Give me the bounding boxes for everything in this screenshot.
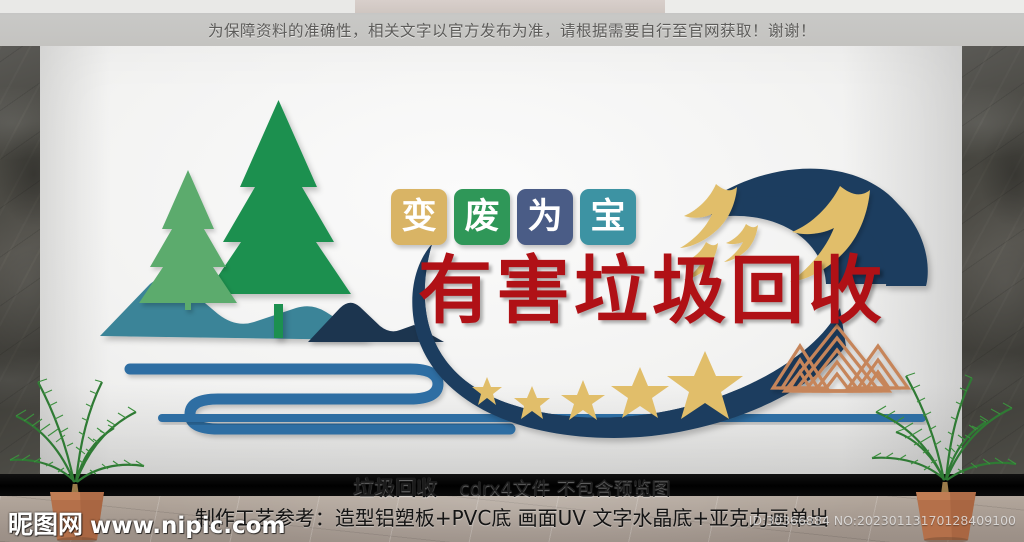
tagline-tiles: 变 废 为 宝 <box>391 189 636 245</box>
tagline-tile-0: 变 <box>391 189 447 245</box>
asset-id-watermark: ID:30366884 NO:20230113170128409100 <box>749 513 1016 528</box>
tagline-tile-1: 废 <box>454 189 510 245</box>
room-photo: 变 废 为 宝 有害垃圾回收 <box>0 46 1024 542</box>
potted-palm-right <box>860 322 1020 542</box>
bird-medium <box>680 184 737 248</box>
tagline-tile-3: 宝 <box>580 189 636 245</box>
tagline-tile-2: 为 <box>517 189 573 245</box>
tagline-tile-2-char: 为 <box>527 200 562 235</box>
screenshot-root: 为保障资料的准确性，相关文字以官方发布为准，请根据需要自行至官网获取！谢谢！ <box>0 0 1024 542</box>
watermark-brand-url: www.nipic.com <box>90 513 285 539</box>
pine-tree-small <box>139 170 237 310</box>
tagline-tile-3-char: 宝 <box>590 200 625 235</box>
ceiling-seam-left <box>0 0 355 13</box>
palm-fronds-left <box>10 379 144 482</box>
tagline-tile-1-char: 废 <box>464 200 499 235</box>
watermark-brand-cn: 昵图网 <box>8 505 83 541</box>
ceiling-seam-right <box>665 0 1024 13</box>
site-watermark: 昵图网 www.nipic.com <box>8 505 285 541</box>
ceiling-notch <box>355 0 665 13</box>
disclaimer-bar: 为保障资料的准确性，相关文字以官方发布为准，请根据需要自行至官网获取！谢谢！ <box>0 0 1024 46</box>
disclaimer-text: 为保障资料的准确性，相关文字以官方发布为准，请根据需要自行至官网获取！谢谢！ <box>0 13 1024 46</box>
tagline-tile-0-char: 变 <box>401 200 436 235</box>
palm-fronds-right <box>872 373 1016 480</box>
sign-main-title: 有害垃圾回收 <box>418 254 886 328</box>
